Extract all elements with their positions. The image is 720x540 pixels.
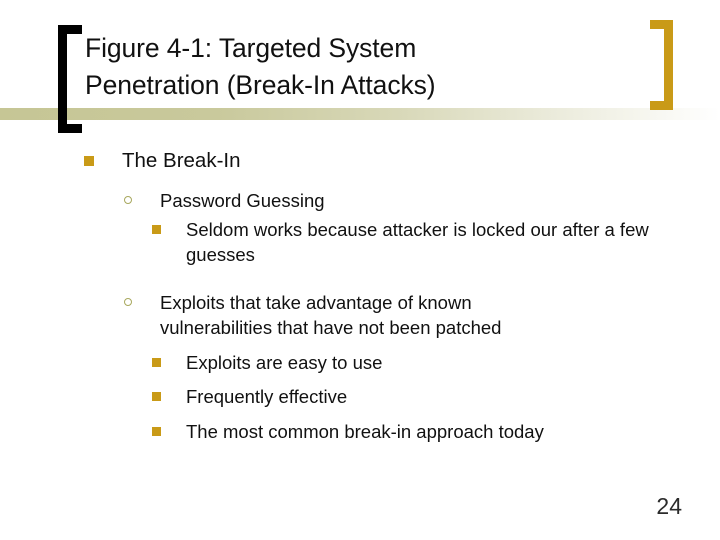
square-bullet-icon	[84, 156, 94, 166]
outline-item-level3-label: Frequently effective	[186, 384, 720, 410]
slide-canvas: Figure 4-1: Targeted System Penetration …	[0, 0, 720, 540]
square-bullet-icon	[152, 427, 161, 436]
outline-item-level3: Seldom works because attacker is locked …	[152, 217, 698, 268]
outline-item-level2-label: Password Guessing	[160, 188, 720, 214]
slide-body: The Break-In Password Guessing Seldom wo…	[0, 138, 720, 444]
outline-item-level3-label: Seldom works because attacker is locked …	[186, 217, 698, 268]
outline-item-level3: Exploits are easy to use	[152, 350, 720, 376]
header-accent-band	[0, 108, 720, 120]
outline-item-level2: Password Guessing	[124, 188, 720, 214]
outline-item-level1-label: The Break-In	[122, 146, 720, 176]
slide-page-number: 24	[656, 495, 682, 518]
circle-bullet-icon	[124, 196, 132, 204]
circle-bullet-icon	[124, 298, 132, 306]
left-bracket-decoration	[58, 25, 82, 133]
outline-item-level2: Exploits that take advantage of known vu…	[124, 290, 720, 341]
right-bracket-decoration	[650, 20, 673, 110]
outline-item-level2-label: Exploits that take advantage of known vu…	[160, 290, 720, 341]
square-bullet-icon	[152, 358, 161, 367]
outline-item-level3: The most common break-in approach today	[152, 419, 720, 445]
outline-item-level3-label: Exploits are easy to use	[186, 350, 720, 376]
outline-item-level1: The Break-In	[84, 146, 720, 176]
square-bullet-icon	[152, 392, 161, 401]
slide-title: Figure 4-1: Targeted System Penetration …	[85, 30, 645, 104]
outline-item-level3: Frequently effective	[152, 384, 720, 410]
square-bullet-icon	[152, 225, 161, 234]
outline-item-level3-label: The most common break-in approach today	[186, 419, 720, 445]
